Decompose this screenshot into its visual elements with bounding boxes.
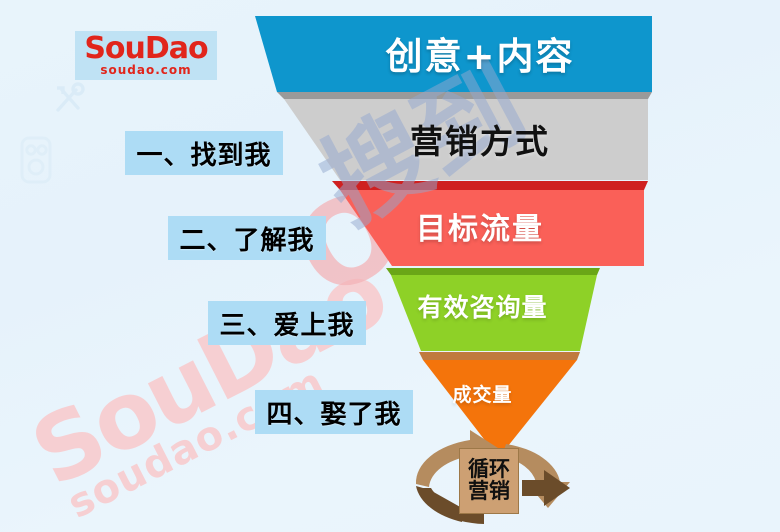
step-label-2: 二、了解我 bbox=[168, 216, 326, 260]
funnel-label-method: 营销方式 bbox=[340, 116, 620, 162]
funnel-label-deal: 成交量 bbox=[420, 378, 545, 408]
funnel-label-traffic: 目标流量 bbox=[360, 205, 600, 247]
cycle-arrow-bottom-right bbox=[522, 470, 570, 506]
funnel-label-creative: 创意+内容 bbox=[330, 27, 630, 79]
logo-domain-text: soudao.com bbox=[100, 64, 191, 76]
funnel-segment-inquiry-bevel bbox=[386, 268, 600, 275]
step-label-4: 四、娶了我 bbox=[255, 390, 413, 434]
funnel-segment-method-bevel bbox=[277, 92, 652, 99]
soudao-logo: SouDao soudao.com bbox=[75, 31, 217, 80]
funnel-segment-traffic-bevel bbox=[332, 181, 648, 190]
poster-canvas: SouDao soudao.com O bbox=[0, 0, 780, 532]
cycle-label-line1: 循环 bbox=[468, 459, 510, 481]
funnel-label-inquiry: 有效咨询量 bbox=[385, 288, 580, 324]
cycle-label-line2: 营销 bbox=[468, 481, 510, 503]
step-label-3: 三、爱上我 bbox=[208, 301, 366, 345]
cycle-marketing-box: 循环 营销 bbox=[459, 448, 519, 514]
funnel-segment-deal-bevel bbox=[419, 352, 580, 360]
logo-brand-text: SouDao bbox=[84, 35, 207, 64]
step-label-1: 一、找到我 bbox=[125, 131, 283, 175]
